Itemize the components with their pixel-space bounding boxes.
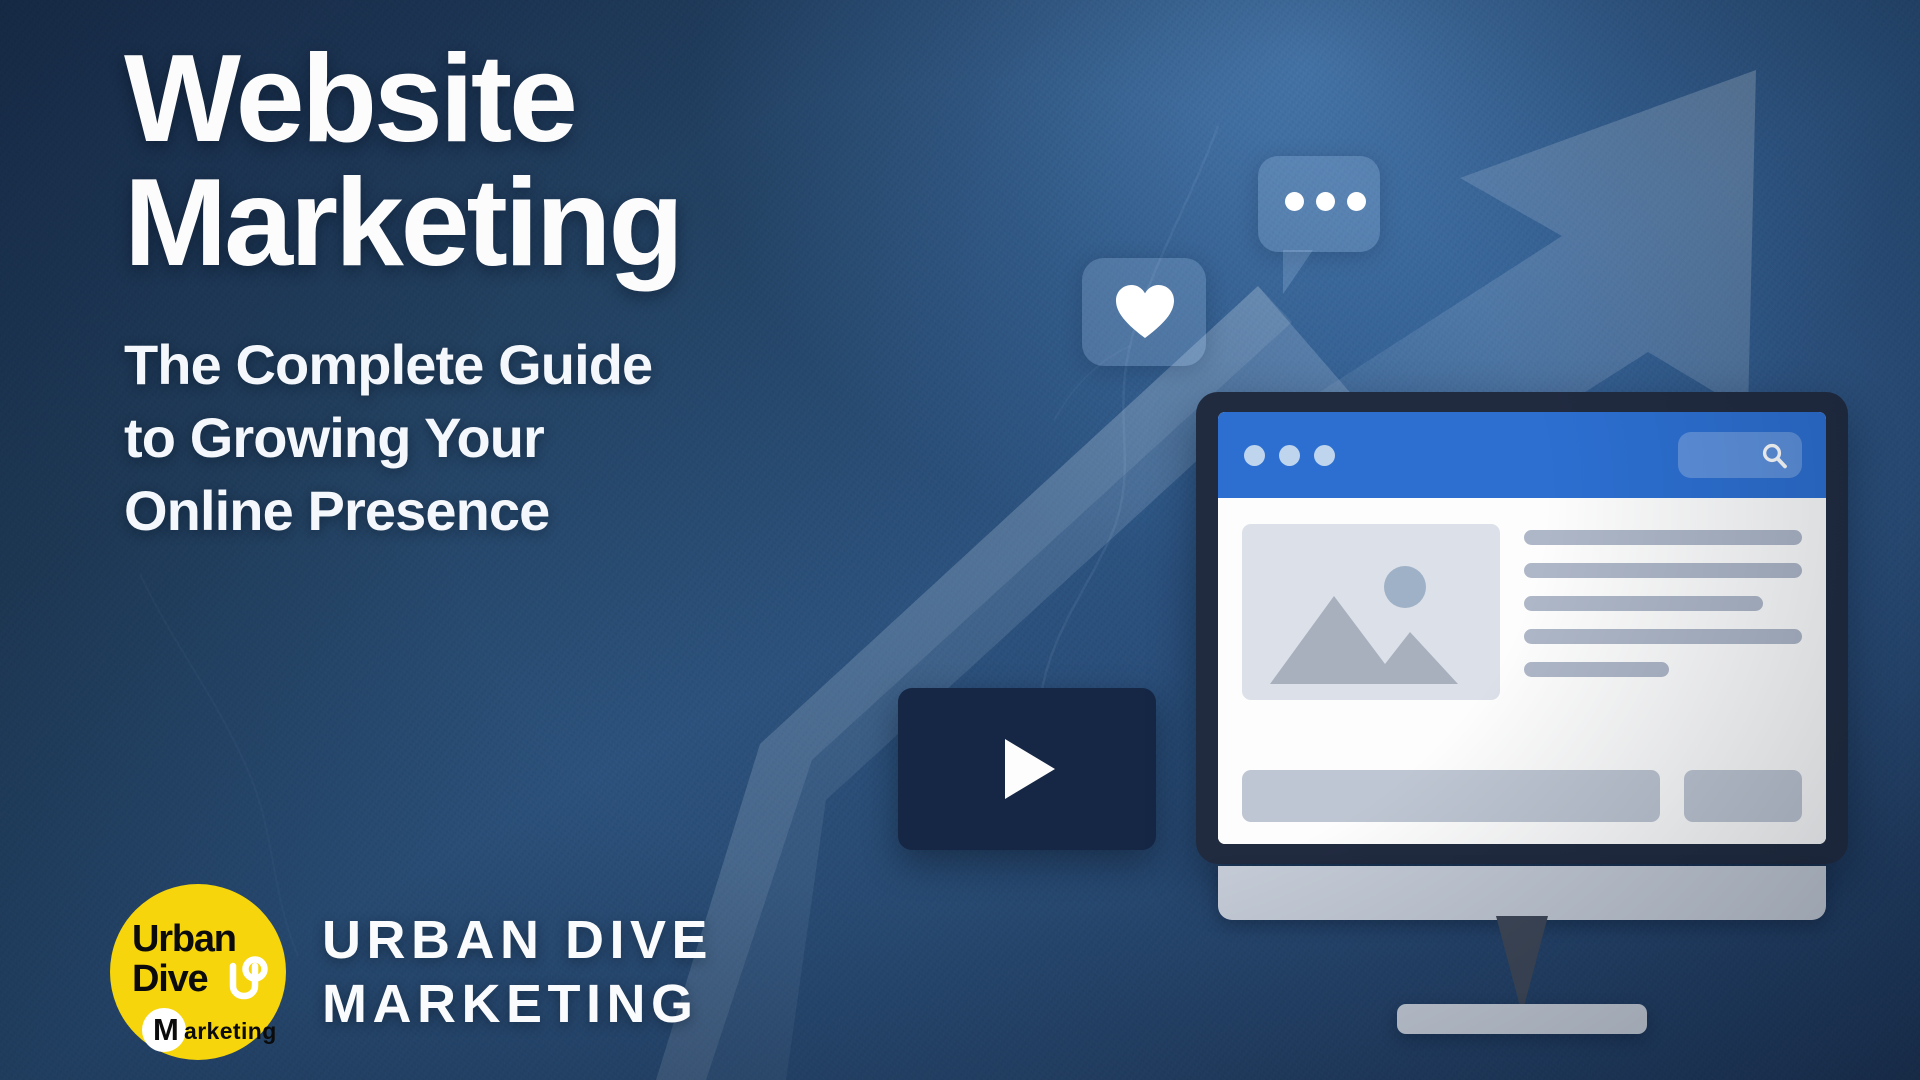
page-bottom-row bbox=[1242, 770, 1802, 822]
brand-lockup: Urban Dive M arketing URBAN DIVE MARKETI… bbox=[110, 884, 713, 1060]
urban-dive-logo-badge: Urban Dive M arketing bbox=[110, 884, 286, 1060]
browser-toolbar bbox=[1218, 412, 1826, 498]
badge-marketing-text: arketing bbox=[184, 1020, 277, 1043]
chat-bubble-tail-icon bbox=[1283, 250, 1313, 294]
subtitle-line-2: to Growing Your bbox=[124, 402, 984, 475]
browser-page-content bbox=[1218, 498, 1826, 844]
monitor-screen bbox=[1218, 412, 1826, 844]
subtitle-line-1: The Complete Guide bbox=[124, 329, 984, 402]
title-card-canvas: Website Marketing The Complete Guide to … bbox=[0, 0, 1920, 1080]
page-text-lines bbox=[1524, 524, 1802, 748]
badge-urban-text: Urban bbox=[132, 920, 236, 958]
search-magnifier-icon bbox=[1761, 442, 1788, 469]
wordmark-line-2: MARKETING bbox=[322, 975, 713, 1033]
up-hook-icon bbox=[222, 956, 270, 1004]
page-top-row bbox=[1242, 524, 1802, 748]
image-placeholder-glyph bbox=[1242, 524, 1500, 700]
monitor-stand-base bbox=[1397, 1004, 1647, 1034]
headline-line-2: Marketing bbox=[124, 160, 984, 286]
badge-dive-text: Dive bbox=[132, 960, 207, 998]
text-line bbox=[1524, 596, 1763, 611]
page-title: Website Marketing bbox=[124, 36, 984, 287]
wordmark-line-1: URBAN DIVE bbox=[322, 911, 713, 969]
text-line bbox=[1524, 563, 1802, 578]
desktop-monitor-mockup bbox=[1196, 392, 1848, 864]
video-play-card[interactable] bbox=[898, 688, 1156, 850]
chat-bubble-dots-icon bbox=[1285, 192, 1366, 211]
brand-wordmark: URBAN DIVE MARKETING bbox=[322, 911, 713, 1034]
play-triangle-icon bbox=[1005, 739, 1055, 799]
browser-search-input[interactable] bbox=[1678, 432, 1802, 478]
text-line bbox=[1524, 662, 1669, 677]
badge-m-letter: M bbox=[153, 1014, 179, 1045]
hero-copy-block: Website Marketing The Complete Guide to … bbox=[124, 36, 984, 547]
heart-icon bbox=[1114, 283, 1176, 341]
text-line bbox=[1524, 629, 1802, 644]
monitor-stand-neck bbox=[1496, 916, 1548, 1014]
headline-line-1: Website bbox=[124, 36, 984, 162]
text-line bbox=[1524, 530, 1802, 545]
subtitle-line-3: Online Presence bbox=[124, 475, 984, 548]
content-block-wide bbox=[1242, 770, 1660, 822]
browser-traffic-lights-icon bbox=[1244, 445, 1335, 466]
monitor-chin bbox=[1218, 866, 1826, 920]
hero-subtitle: The Complete Guide to Growing Your Onlin… bbox=[124, 329, 984, 547]
image-placeholder-icon bbox=[1242, 524, 1500, 700]
content-block-small bbox=[1684, 770, 1802, 822]
